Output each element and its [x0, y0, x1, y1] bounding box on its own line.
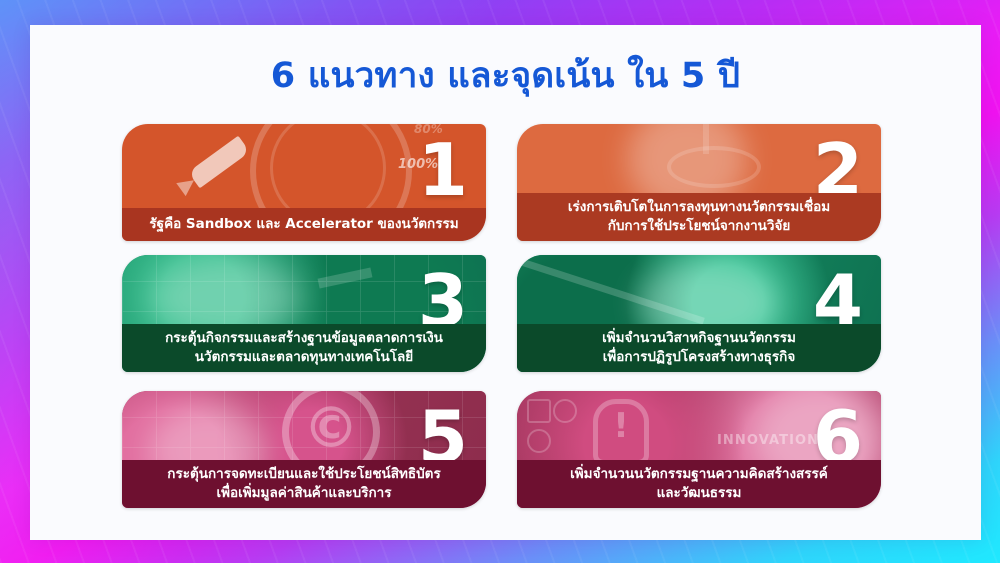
card-1-label: รัฐคือ Sandbox และ Accelerator ของนวัตกร…: [149, 215, 458, 234]
card-4-label: เพิ่มจำนวนวิสาหกิจฐานนวัตกรรม เพื่อการปฏ…: [602, 329, 796, 367]
card-2-label-band: เร่งการเติบโตในการลงทุนทางนวัตกรรมเชื่อม…: [517, 193, 881, 241]
card-1-label-band: รัฐคือ Sandbox และ Accelerator ของนวัตกร…: [122, 208, 486, 241]
innovation-watermark: INNOVATION: [717, 433, 819, 448]
slide-panel: 6 แนวทาง และจุดเน้น ใน 5 ปี 100% 80% 1 ร…: [30, 25, 981, 540]
pipette-icon: [703, 124, 709, 154]
rocket-icon: [188, 136, 250, 189]
card-5[interactable]: © 5 กระตุ้นการจดทะเบียนและใช้ประโยชน์สิท…: [122, 391, 486, 508]
card-6[interactable]: INNOVATION 6 เพิ่มจำนวนนวัตกรรมฐานความคิ…: [517, 391, 881, 508]
cards-grid: 100% 80% 1 รัฐคือ Sandbox และ Accelerato…: [122, 124, 887, 504]
card-5-label: กระตุ้นการจดทะเบียนและใช้ประโยชน์สิทธิบั…: [167, 465, 440, 503]
lightbulb-icon: [593, 399, 649, 465]
card-3[interactable]: 3 กระตุ้นกิจกรรมและสร้างฐานข้อมูลตลาดการ…: [122, 255, 486, 372]
card-6-label-band: เพิ่มจำนวนนวัตกรรมฐานความคิดสร้างสรรค์ แ…: [517, 460, 881, 508]
card-6-label: เพิ่มจำนวนนวัตกรรมฐานความคิดสร้างสรรค์ แ…: [570, 465, 828, 503]
card-3-label: กระตุ้นกิจกรรมและสร้างฐานข้อมูลตลาดการเง…: [165, 329, 443, 367]
card-5-label-band: กระตุ้นการจดทะเบียนและใช้ประโยชน์สิทธิบั…: [122, 460, 486, 508]
page-title: 6 แนวทาง และจุดเน้น ใน 5 ปี: [30, 54, 981, 98]
card-1[interactable]: 100% 80% 1 รัฐคือ Sandbox และ Accelerato…: [122, 124, 486, 241]
petri-dish-icon: [667, 146, 761, 188]
slide-canvas: 6 แนวทาง และจุดเน้น ใน 5 ปี 100% 80% 1 ร…: [0, 0, 1000, 563]
card-4-label-band: เพิ่มจำนวนวิสาหกิจฐานนวัตกรรม เพื่อการปฏ…: [517, 324, 881, 372]
card-4[interactable]: 4 เพิ่มจำนวนวิสาหกิจฐานนวัตกรรม เพื่อการ…: [517, 255, 881, 372]
card-2-label: เร่งการเติบโตในการลงทุนทางนวัตกรรมเชื่อม…: [568, 198, 830, 236]
card-3-label-band: กระตุ้นกิจกรรมและสร้างฐานข้อมูลตลาดการเง…: [122, 324, 486, 372]
card-2[interactable]: 2 เร่งการเติบโตในการลงทุนทางนวัตกรรมเชื่…: [517, 124, 881, 241]
